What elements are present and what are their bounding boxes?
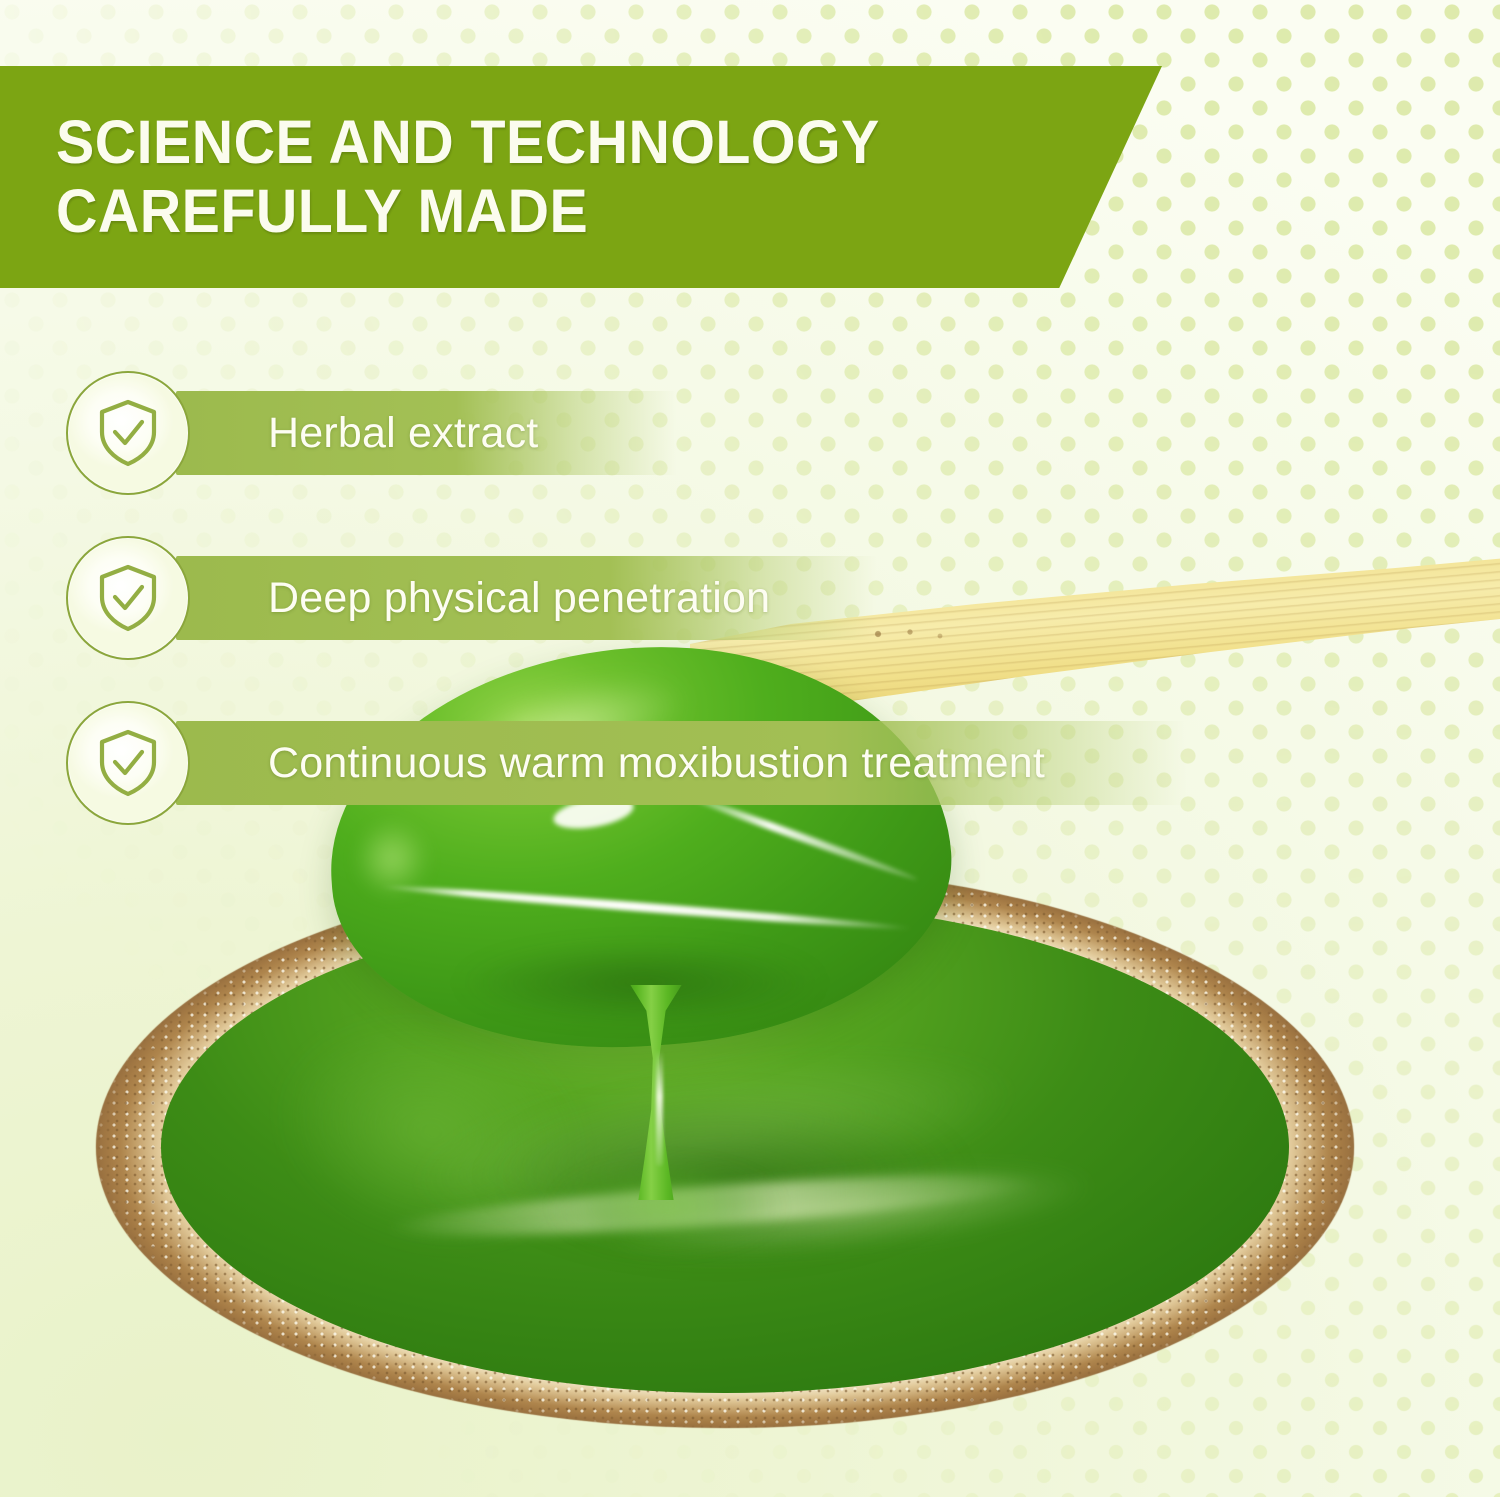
spoon-paste-lower-shadow <box>392 927 888 1038</box>
plate-rim-texture <box>96 866 1354 1428</box>
paste-drip-pool <box>552 1160 782 1252</box>
paste-shadow-center <box>409 1068 1040 1285</box>
header-banner: SCIENCE AND TECHNOLOGY CAREFULLY MADE <box>0 66 1162 288</box>
drip-highlight <box>656 1050 663 1166</box>
plate-rim-inner <box>96 866 1354 1428</box>
spoon-handle-knots <box>870 626 990 660</box>
feature-bar: Deep physical penetration <box>176 556 876 640</box>
feature-bar: Herbal extract <box>176 391 676 475</box>
paste-swirl-upper <box>286 975 1141 1300</box>
drip-column <box>616 985 696 1200</box>
feature-bar: Continuous warm moxibustion treatment <box>176 721 1186 805</box>
spoon-rim-specular-highlight <box>380 882 912 933</box>
paste-sheen-streak <box>386 1164 1041 1249</box>
feature-icon-badge <box>66 371 190 495</box>
paste-swirl-lower <box>496 1121 1202 1302</box>
plate-green-paste <box>161 901 1288 1393</box>
plate-rim <box>96 866 1354 1428</box>
shield-check-icon <box>95 563 161 633</box>
feature-icon-badge <box>66 536 190 660</box>
feature-label: Deep physical penetration <box>268 574 770 623</box>
feature-icon-badge <box>66 701 190 825</box>
shield-check-icon <box>95 728 161 798</box>
spoon-bowl-with-paste <box>330 648 950 1046</box>
promo-image-canvas: SCIENCE AND TECHNOLOGY CAREFULLY MADE He… <box>0 0 1500 1497</box>
paste-highlight-left <box>201 945 664 1320</box>
shield-check-icon <box>95 398 161 468</box>
page-title: SCIENCE AND TECHNOLOGY CAREFULLY MADE <box>56 108 880 246</box>
feature-row-deep-physical-penetration: Deep physical penetration <box>66 536 190 660</box>
ceramic-plate <box>96 866 1354 1428</box>
spoon-paste-left-highlight <box>342 807 441 910</box>
feature-row-herbal-extract: Herbal extract <box>66 371 190 495</box>
feature-row-continuous-warm-moxibustion-treatment: Continuous warm moxibustion treatment <box>66 701 190 825</box>
paste-drip <box>616 985 696 1200</box>
feature-label: Herbal extract <box>268 409 538 458</box>
feature-label: Continuous warm moxibustion treatment <box>268 739 1045 788</box>
spoon-paste-mass <box>317 627 963 1067</box>
